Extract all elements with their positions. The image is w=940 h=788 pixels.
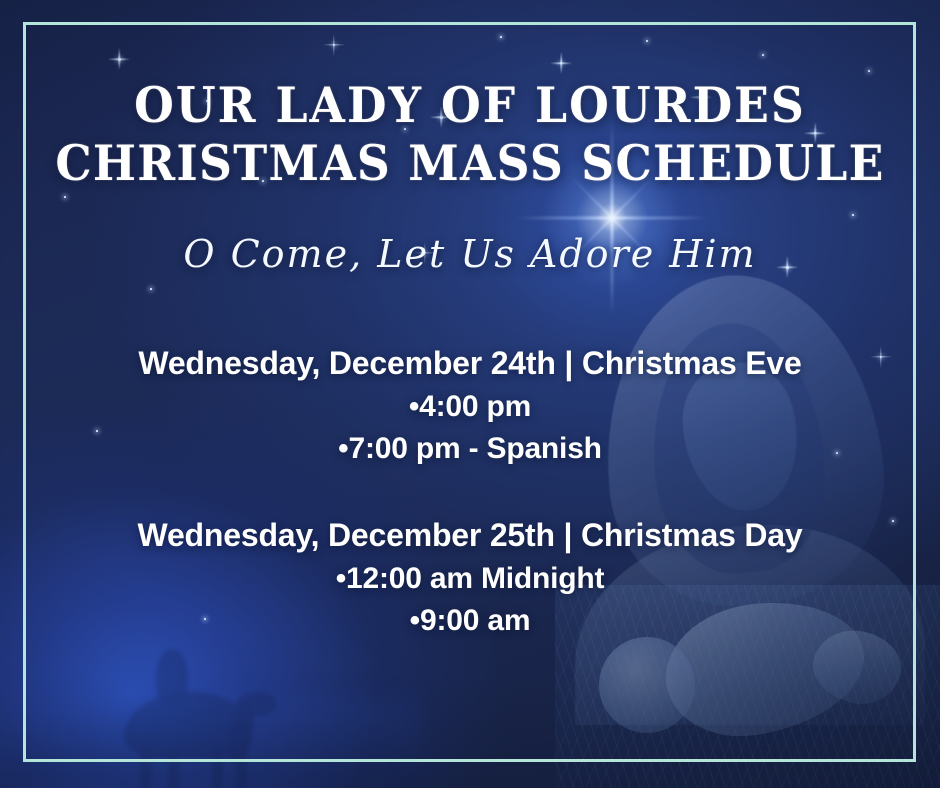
- schedule-block: Wednesday, December 25th | Christmas Day…: [0, 512, 940, 642]
- schedule-time: •9:00 am: [0, 600, 940, 642]
- schedule-time: •12:00 am Midnight: [0, 558, 940, 600]
- poster-content: Our Lady of Lourdes Christmas Mass Sched…: [0, 0, 940, 788]
- subtitle-script: O Come, Let Us Adore Him: [0, 232, 940, 276]
- schedule-time: •4:00 pm: [0, 386, 940, 428]
- christmas-mass-schedule-poster: Our Lady of Lourdes Christmas Mass Sched…: [0, 0, 940, 788]
- schedule-time: •7:00 pm - Spanish: [0, 428, 940, 470]
- mass-schedule-list: Wednesday, December 24th | Christmas Eve…: [0, 340, 940, 642]
- schedule-day-heading: Wednesday, December 24th | Christmas Eve: [0, 340, 940, 386]
- schedule-day-heading: Wednesday, December 25th | Christmas Day: [0, 512, 940, 558]
- title-line-1: Our Lady of Lourdes: [33, 76, 907, 134]
- page-title: Our Lady of Lourdes Christmas Mass Sched…: [33, 76, 907, 192]
- schedule-block: Wednesday, December 24th | Christmas Eve…: [0, 340, 940, 470]
- title-line-2: Christmas Mass Schedule: [33, 134, 907, 192]
